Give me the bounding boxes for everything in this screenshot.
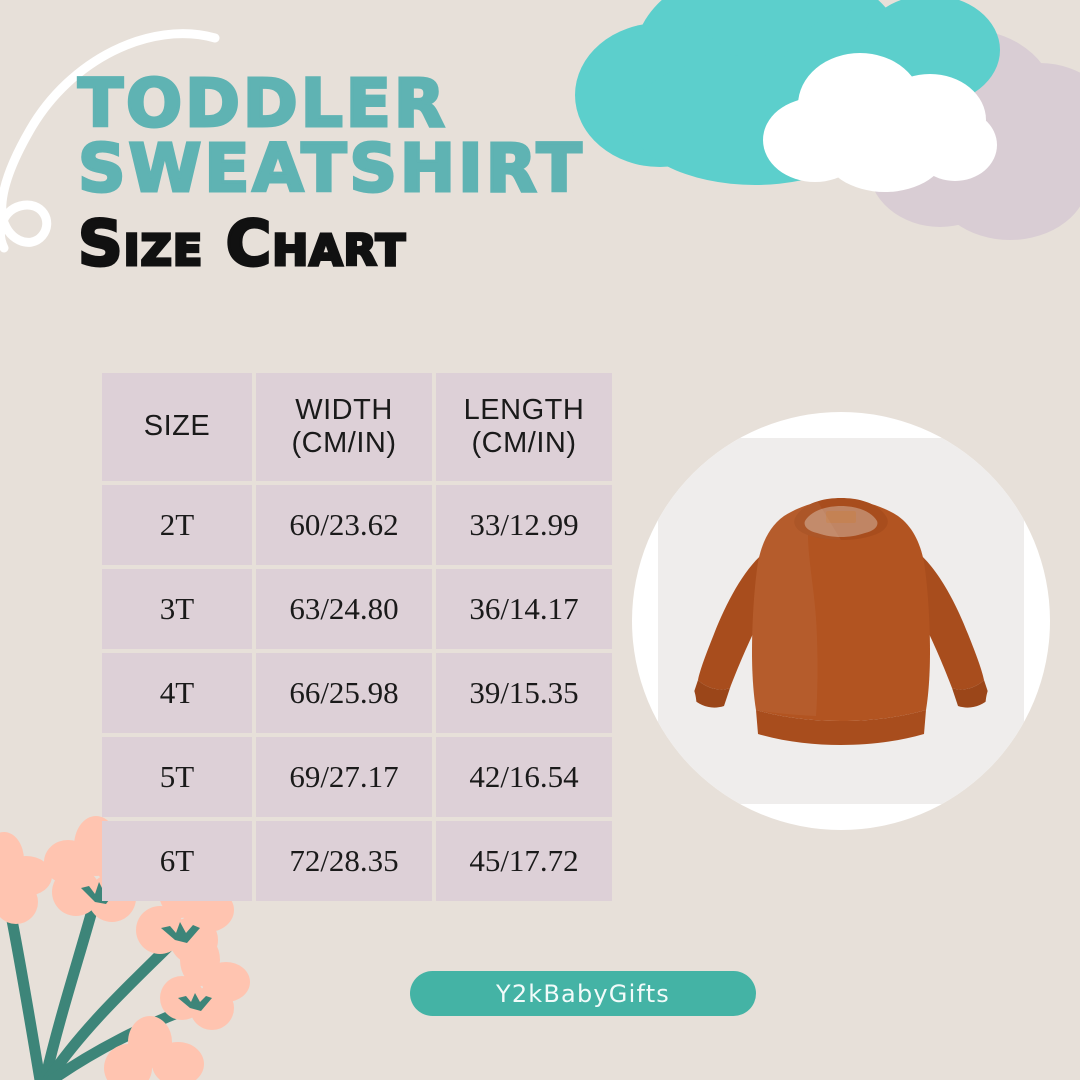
- column-header-size: SIZE: [102, 373, 252, 481]
- table-row: 3T 63/24.80 36/14.17: [102, 569, 612, 649]
- cell-length: 39/15.35: [436, 653, 612, 733]
- cell-length: 36/14.17: [436, 569, 612, 649]
- cell-width: 72/28.35: [256, 821, 432, 901]
- brand-badge[interactable]: Y2kBabyGifts: [410, 971, 756, 1016]
- size-chart-poster: TODDLER SWEATSHIRT Size Chart SIZE WIDTH…: [0, 0, 1080, 1080]
- table-row: 6T 72/28.35 45/17.72: [102, 821, 612, 901]
- page-title: TODDLER SWEATSHIRT Size Chart: [78, 72, 758, 275]
- cell-width: 60/23.62: [256, 485, 432, 565]
- cloud-white-icon: [763, 53, 997, 192]
- cell-length: 45/17.72: [436, 821, 612, 901]
- table-header-row: SIZE WIDTH (CM/IN) LENGTH (CM/IN): [102, 373, 612, 481]
- brand-badge-label: Y2kBabyGifts: [496, 980, 670, 1008]
- column-header-length: LENGTH (CM/IN): [436, 373, 612, 481]
- product-photo: [658, 438, 1024, 804]
- size-chart-table: SIZE WIDTH (CM/IN) LENGTH (CM/IN) 2T 60/…: [98, 369, 616, 905]
- cell-size: 6T: [102, 821, 252, 901]
- cell-length: 42/16.54: [436, 737, 612, 817]
- cell-length: 33/12.99: [436, 485, 612, 565]
- column-header-width-unit: (CM/IN): [256, 427, 432, 460]
- table-row: 2T 60/23.62 33/12.99: [102, 485, 612, 565]
- cloud-mauve-icon: [868, 30, 1080, 240]
- column-header-width-label: WIDTH: [295, 394, 393, 426]
- cell-size: 5T: [102, 737, 252, 817]
- cell-width: 63/24.80: [256, 569, 432, 649]
- subtitle: Size Chart: [78, 213, 758, 275]
- cell-size: 2T: [102, 485, 252, 565]
- title-line-2: SWEATSHIRT: [78, 137, 758, 202]
- product-photo-frame: [632, 412, 1050, 830]
- column-header-length-unit: (CM/IN): [436, 427, 612, 460]
- cell-size: 4T: [102, 653, 252, 733]
- cell-width: 66/25.98: [256, 653, 432, 733]
- column-header-size-label: SIZE: [144, 410, 210, 442]
- cell-size: 3T: [102, 569, 252, 649]
- table-row: 4T 66/25.98 39/15.35: [102, 653, 612, 733]
- neck-label-icon: [826, 511, 856, 523]
- column-header-length-label: LENGTH: [464, 394, 585, 426]
- flower-stems-icon: [10, 900, 190, 1080]
- title-line-1: TODDLER: [78, 72, 758, 137]
- cell-width: 69/27.17: [256, 737, 432, 817]
- column-header-width: WIDTH (CM/IN): [256, 373, 432, 481]
- table-row: 5T 69/27.17 42/16.54: [102, 737, 612, 817]
